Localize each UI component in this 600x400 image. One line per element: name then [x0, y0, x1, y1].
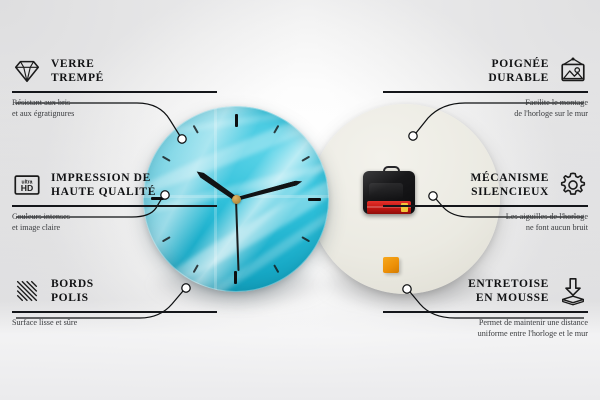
ultra-hd-icon: ultraHD — [12, 170, 42, 200]
feature-bords-polis[interactable]: BORDS POLIS Surface lisse et sûre — [12, 276, 217, 328]
feature-description: Facilite le montage de l'horloge sur le … — [383, 97, 588, 120]
feature-impression-haute-qualite[interactable]: ultraHD IMPRESSION DE HAUTE QUALITÉ Coul… — [12, 170, 217, 234]
picture-hanger-icon — [558, 56, 588, 86]
feature-description: Permet de maintenir une distance uniform… — [383, 317, 588, 340]
feature-poignee-durable[interactable]: POIGNÉE DURABLE Facilite le montage de l… — [383, 56, 588, 120]
feature-title: ENTRETOISE EN MOUSSE — [468, 277, 549, 305]
foam-spacer-icon — [558, 276, 588, 306]
feature-mecanisme-silencieux[interactable]: MÉCANISME SILENCIEUX Les aiguilles de l'… — [383, 170, 588, 234]
feature-rule — [383, 205, 588, 207]
svg-text:HD: HD — [21, 183, 33, 193]
foam-spacer-pad — [383, 257, 399, 273]
feature-title: IMPRESSION DE HAUTE QUALITÉ — [51, 171, 156, 199]
feature-entretoise-en-mousse[interactable]: ENTRETOISE EN MOUSSE Permet de maintenir… — [383, 276, 588, 340]
feature-rule — [12, 91, 217, 93]
feature-rule — [383, 91, 588, 93]
feature-title: POIGNÉE DURABLE — [488, 57, 549, 85]
gear-icon — [558, 170, 588, 200]
feature-description: Résistant aux bris et aux égratignures — [12, 97, 217, 120]
infographic-canvas: VERRE TREMPÉ Résistant aux bris et aux é… — [0, 0, 600, 400]
feature-description: Les aiguilles de l'horloge ne font aucun… — [383, 211, 588, 234]
feature-title: BORDS POLIS — [51, 277, 94, 305]
feature-title: MÉCANISME SILENCIEUX — [470, 171, 549, 199]
polished-edges-icon — [12, 276, 42, 306]
diamond-icon — [12, 56, 42, 86]
feature-description: Surface lisse et sûre — [12, 317, 217, 328]
feature-rule — [383, 311, 588, 313]
feature-rule — [12, 311, 217, 313]
feature-title: VERRE TREMPÉ — [51, 57, 104, 85]
feature-verre-trempe[interactable]: VERRE TREMPÉ Résistant aux bris et aux é… — [12, 56, 217, 120]
feature-description: Couleurs intenses et image claire — [12, 211, 217, 234]
feature-rule — [12, 205, 217, 207]
